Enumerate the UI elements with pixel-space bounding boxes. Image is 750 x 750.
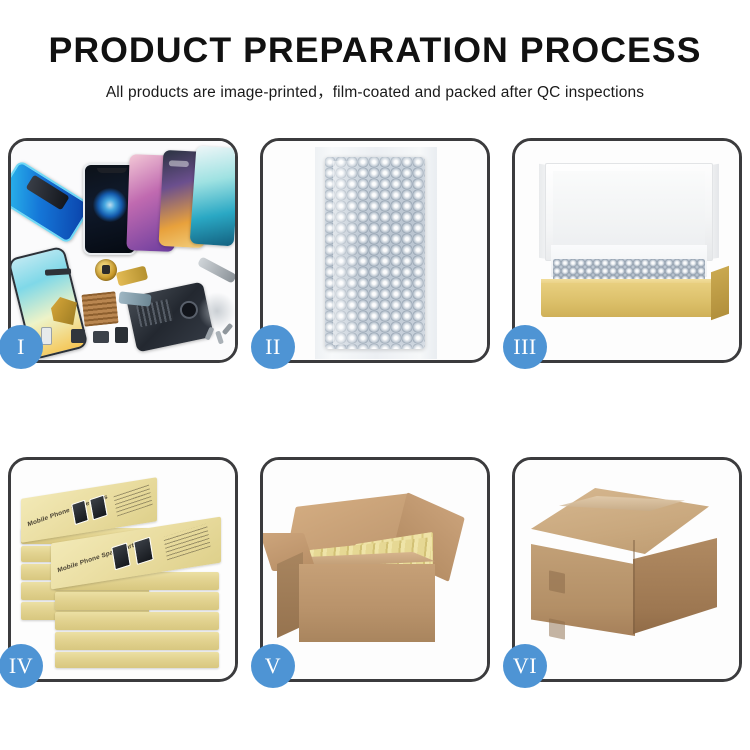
step-badge-1: I bbox=[0, 325, 43, 369]
step-badge-4: IV bbox=[0, 644, 43, 688]
carton-edge-seam bbox=[633, 540, 635, 634]
carton-hand-hole-2 bbox=[549, 618, 565, 639]
carton-front-face bbox=[531, 544, 635, 636]
step-2-image bbox=[263, 141, 487, 360]
box-tray-right-side bbox=[711, 266, 729, 321]
page-subtitle: All products are image-printed，film-coat… bbox=[0, 80, 750, 102]
header: PRODUCT PREPARATION PROCESS All products… bbox=[0, 0, 750, 102]
page-title: PRODUCT PREPARATION PROCESS bbox=[0, 33, 750, 70]
stacked-boxes-photo: Mobile Phone Spare Parts Mobile Phone Sp… bbox=[11, 460, 235, 679]
wrap-highlight bbox=[333, 161, 363, 345]
inner-box-photo bbox=[515, 141, 739, 360]
process-step-panel-5: V bbox=[260, 457, 490, 682]
small-component-1 bbox=[71, 329, 85, 343]
step-5-image bbox=[263, 460, 487, 679]
process-step-panel-4: Mobile Phone Spare Parts Mobile Phone Sp… bbox=[8, 457, 238, 682]
step-4-image: Mobile Phone Spare Parts Mobile Phone Sp… bbox=[11, 460, 235, 679]
step-1-image bbox=[11, 141, 235, 360]
bubble-wrap-photo bbox=[263, 141, 487, 360]
process-step-panel-1: I bbox=[8, 138, 238, 363]
process-step-grid: I II III bbox=[8, 138, 742, 682]
products-and-spare-parts-photo bbox=[11, 141, 235, 360]
step-3-image bbox=[515, 141, 739, 360]
carton-hand-hole-1 bbox=[549, 570, 565, 593]
step-6-image bbox=[515, 460, 739, 679]
step-badge-3: III bbox=[503, 325, 547, 369]
ic-chip-part bbox=[81, 291, 118, 326]
box-lid-inner bbox=[553, 171, 705, 255]
process-step-panel-2: II bbox=[260, 138, 490, 363]
carton-loading-photo bbox=[263, 460, 487, 679]
step-badge-6: VI bbox=[503, 644, 547, 688]
small-component-2 bbox=[93, 331, 109, 343]
teal-phone-screen bbox=[190, 146, 235, 247]
sealed-carton-photo bbox=[515, 460, 739, 679]
process-step-panel-6: VI bbox=[512, 457, 742, 682]
speaker-coil-part bbox=[95, 259, 117, 281]
process-step-panel-3: III bbox=[512, 138, 742, 363]
step-badge-5: V bbox=[251, 644, 295, 688]
carton-front-face bbox=[299, 564, 435, 642]
kraft-box-tray bbox=[541, 283, 717, 317]
small-component-3 bbox=[115, 327, 128, 343]
step-badge-2: II bbox=[251, 325, 295, 369]
